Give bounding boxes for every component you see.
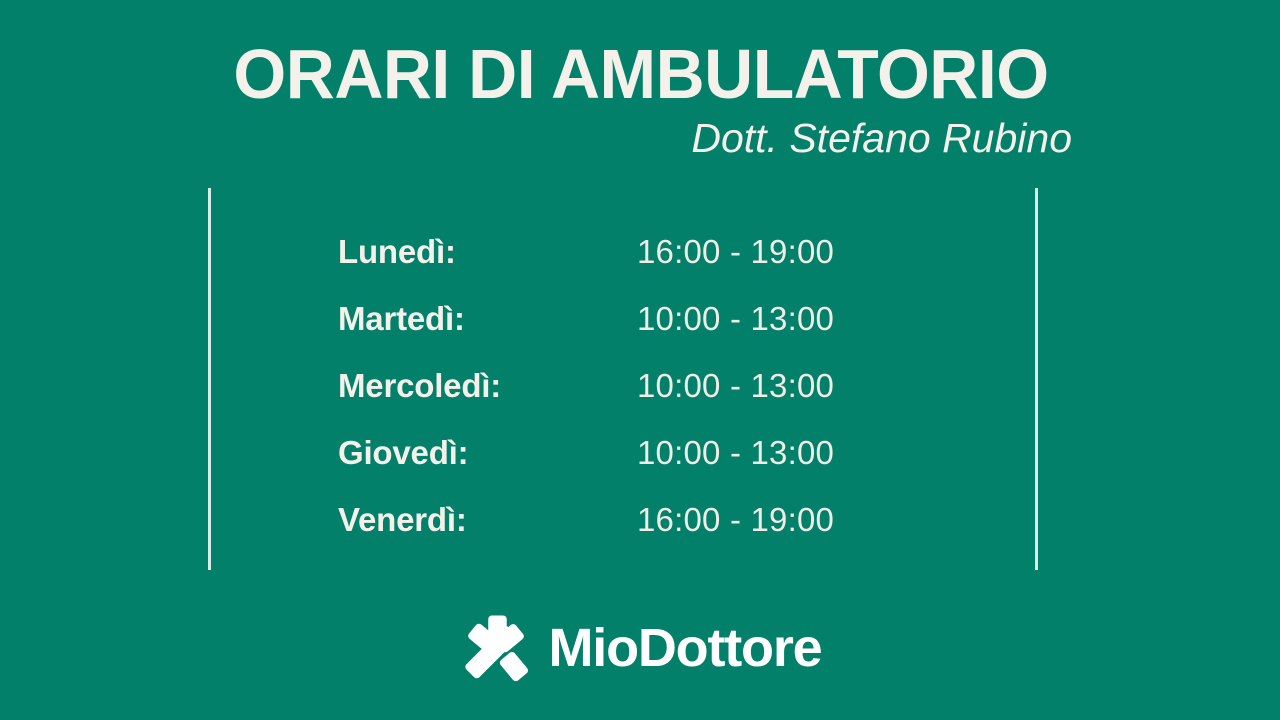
day-label: Martedì:: [338, 285, 465, 352]
divider-left: [208, 188, 211, 570]
day-label: Mercoledì:: [338, 352, 501, 419]
brand-logo: MioDottore: [0, 600, 1280, 696]
poster-header: ORARI DI AMBULATORIO Dott. Stefano Rubin…: [0, 0, 1280, 180]
schedule-row: Giovedì: 10:00 - 13:00: [338, 419, 1038, 486]
schedule-list: Lunedì: 16:00 - 19:00 Martedì: 10:00 - 1…: [338, 218, 1038, 553]
schedule-row: Mercoledì: 10:00 - 13:00: [338, 352, 1038, 419]
time-value: 10:00 - 13:00: [637, 285, 834, 352]
day-label: Venerdì:: [338, 486, 467, 553]
schedule-row: Martedì: 10:00 - 13:00: [338, 285, 1038, 352]
clinic-hours-poster: ORARI DI AMBULATORIO Dott. Stefano Rubin…: [0, 0, 1280, 720]
time-value: 16:00 - 19:00: [637, 218, 834, 285]
opening-hours-panel: Lunedì: 16:00 - 19:00 Martedì: 10:00 - 1…: [208, 188, 1038, 570]
miodottore-asterisk-icon: [459, 611, 533, 685]
schedule-row: Lunedì: 16:00 - 19:00: [338, 218, 1038, 285]
day-label: Lunedì:: [338, 218, 456, 285]
day-label: Giovedì:: [338, 419, 468, 486]
time-value: 16:00 - 19:00: [637, 486, 834, 553]
time-value: 10:00 - 13:00: [637, 419, 834, 486]
page-title: ORARI DI AMBULATORIO: [223, 36, 1059, 112]
time-value: 10:00 - 13:00: [637, 352, 834, 419]
doctor-name-subtitle: Dott. Stefano Rubino: [210, 112, 1072, 164]
schedule-row: Venerdì: 16:00 - 19:00: [338, 486, 1038, 553]
brand-wordmark: MioDottore: [549, 621, 822, 675]
